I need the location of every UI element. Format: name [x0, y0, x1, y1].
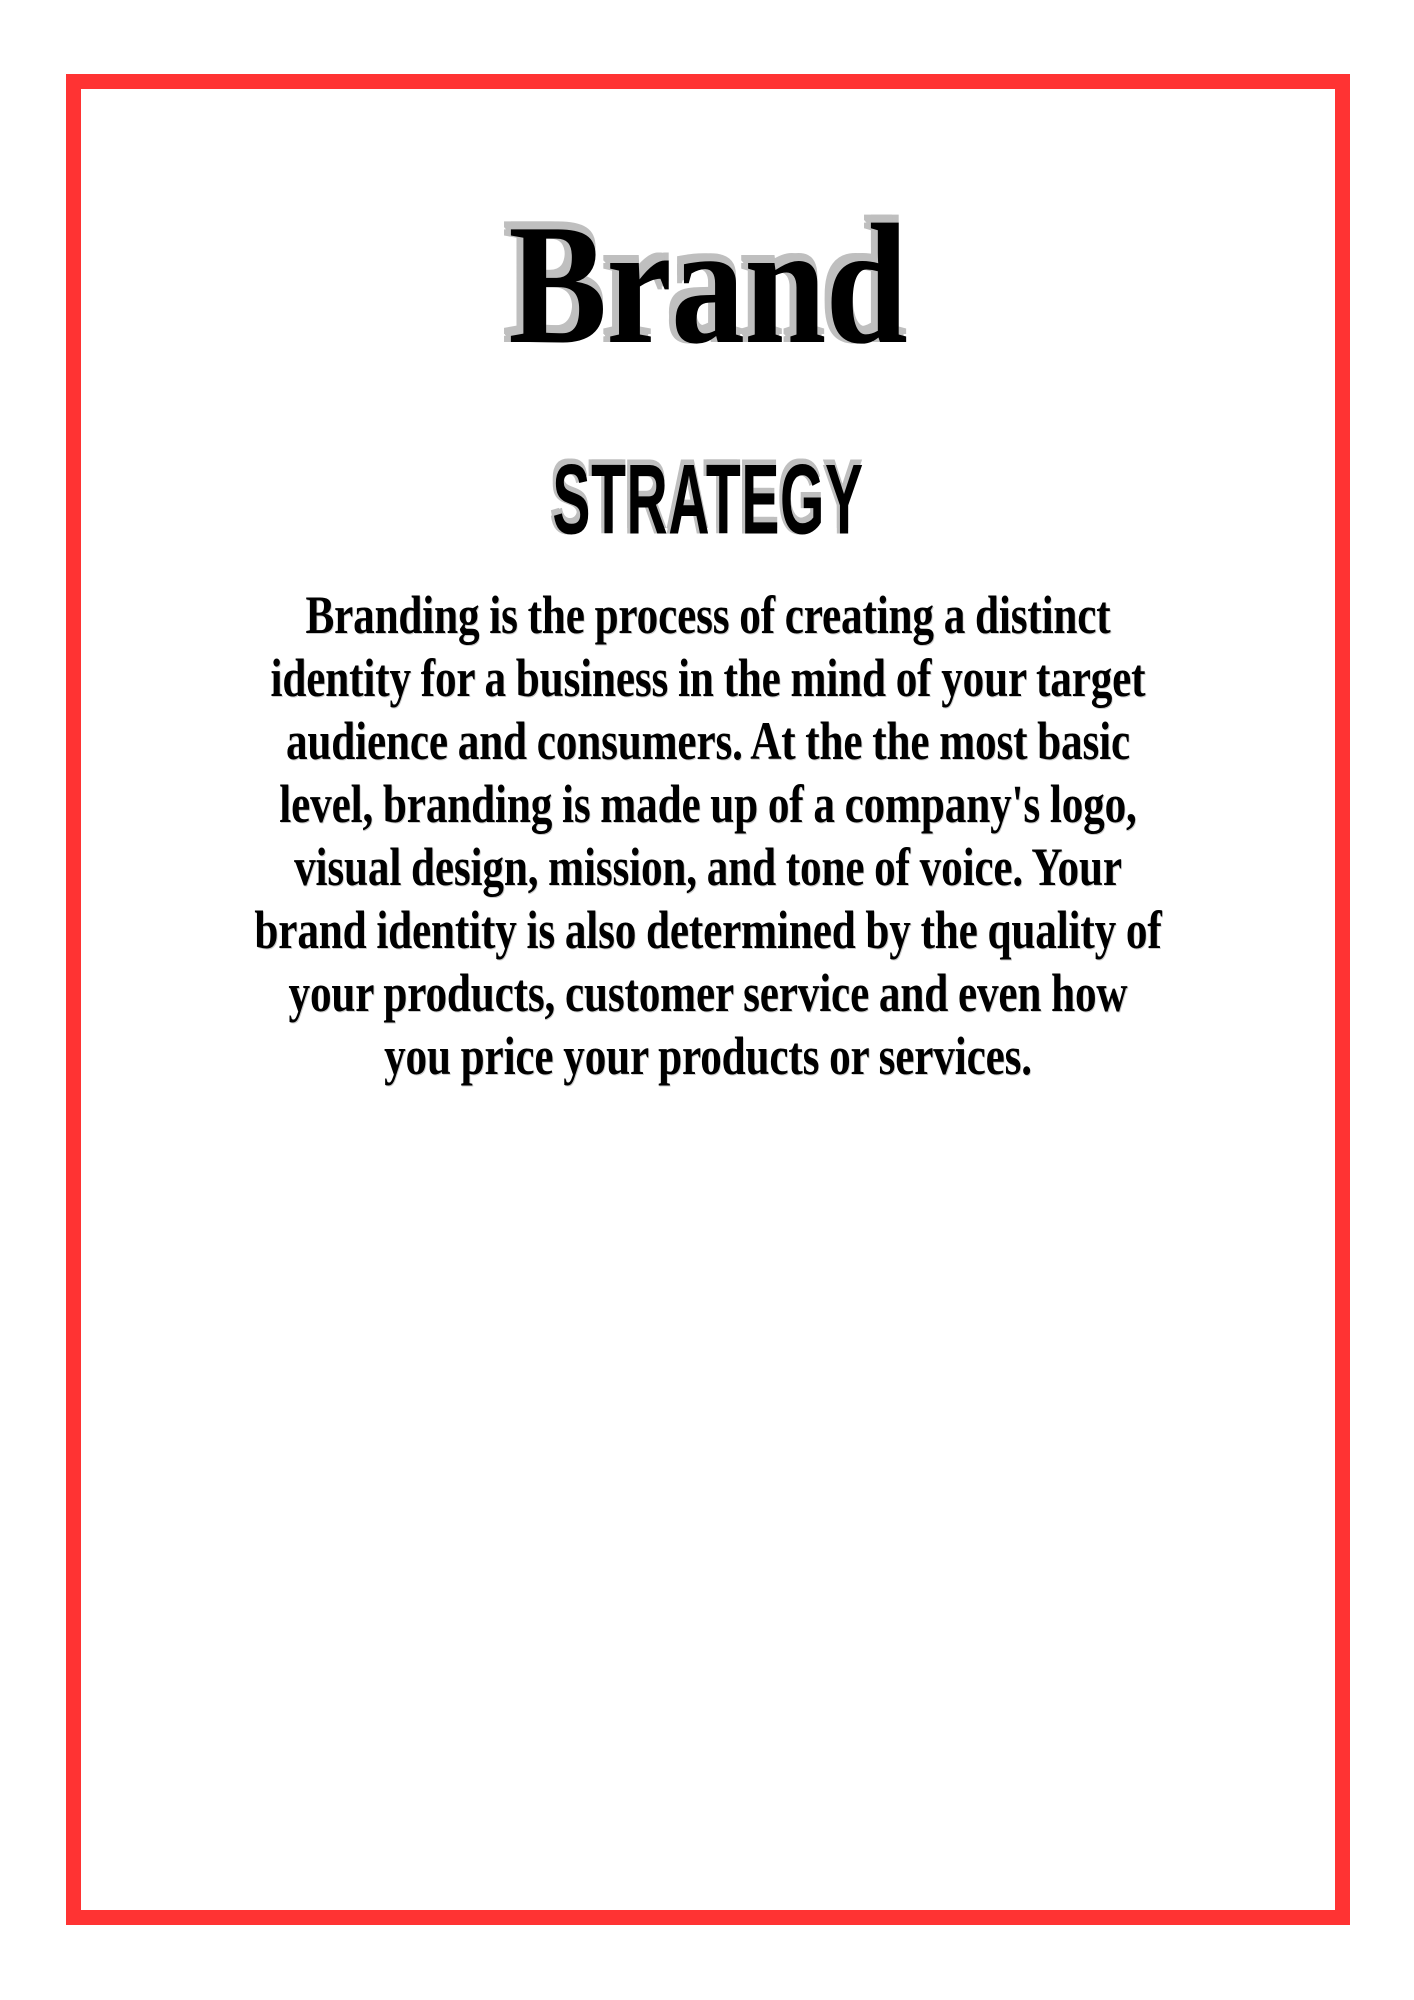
page-title: Brand	[509, 199, 908, 371]
body-paragraph: Branding is the process of creating a di…	[199, 584, 1217, 1088]
subheadline-container: STRATEGY	[66, 454, 1350, 546]
body-container: Branding is the process of creating a di…	[66, 584, 1350, 1088]
headline-container: Brand	[66, 199, 1350, 371]
page-subtitle: STRATEGY	[552, 450, 863, 549]
poster-canvas: Brand STRATEGY Branding is the process o…	[0, 0, 1414, 2000]
poster-content: Brand STRATEGY Branding is the process o…	[66, 74, 1350, 1925]
